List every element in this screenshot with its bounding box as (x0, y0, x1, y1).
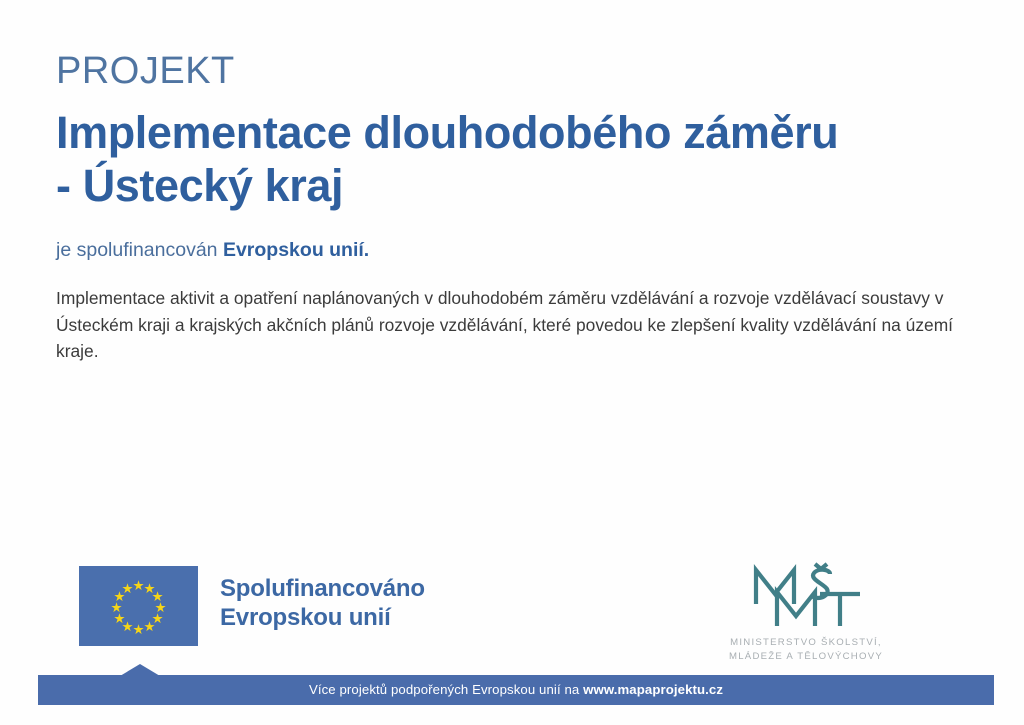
msmt-logo: MINISTERSTVO ŠKOLSTVÍ, MLÁDEŽE A TĚLOVÝC… (706, 560, 906, 664)
eu-logo-caption: Spolufinancováno Evropskou unií (220, 566, 425, 633)
msmt-monogram-icon (744, 560, 869, 632)
text-content-block: PROJEKT Implementace dlouhodobého záměru… (56, 52, 956, 365)
banner-website-link[interactable]: www.mapaprojektu.cz (583, 682, 723, 697)
page-title: Implementace dlouhodobého záměru - Ústec… (56, 106, 856, 212)
poster-page: PROJEKT Implementace dlouhodobého záměru… (0, 0, 1024, 725)
european-union-flag-icon (79, 566, 198, 646)
funding-subline-prefix: je spolufinancován (56, 239, 223, 261)
project-kicker: PROJEKT (56, 52, 956, 92)
eu-logo: Spolufinancováno Evropskou unií (79, 566, 425, 646)
msmt-logo-caption: MINISTERSTVO ŠKOLSTVÍ, MLÁDEŽE A TĚLOVÝC… (706, 636, 906, 664)
banner-text: Více projektů podpořených Evropskou unií… (38, 675, 994, 705)
funding-subline-emphasis: Evropskou unií. (223, 239, 369, 261)
funding-subline: je spolufinancován Evropskou unií. (56, 238, 956, 263)
banner-text-prefix: Více projektů podpořených Evropskou unií… (309, 682, 583, 697)
project-description: Implementace aktivit a opatření naplánov… (56, 285, 956, 364)
bottom-banner: Více projektů podpořených Evropskou unií… (38, 664, 994, 705)
footer-logo-row: Spolufinancováno Evropskou unií MINISTER… (0, 560, 1024, 660)
